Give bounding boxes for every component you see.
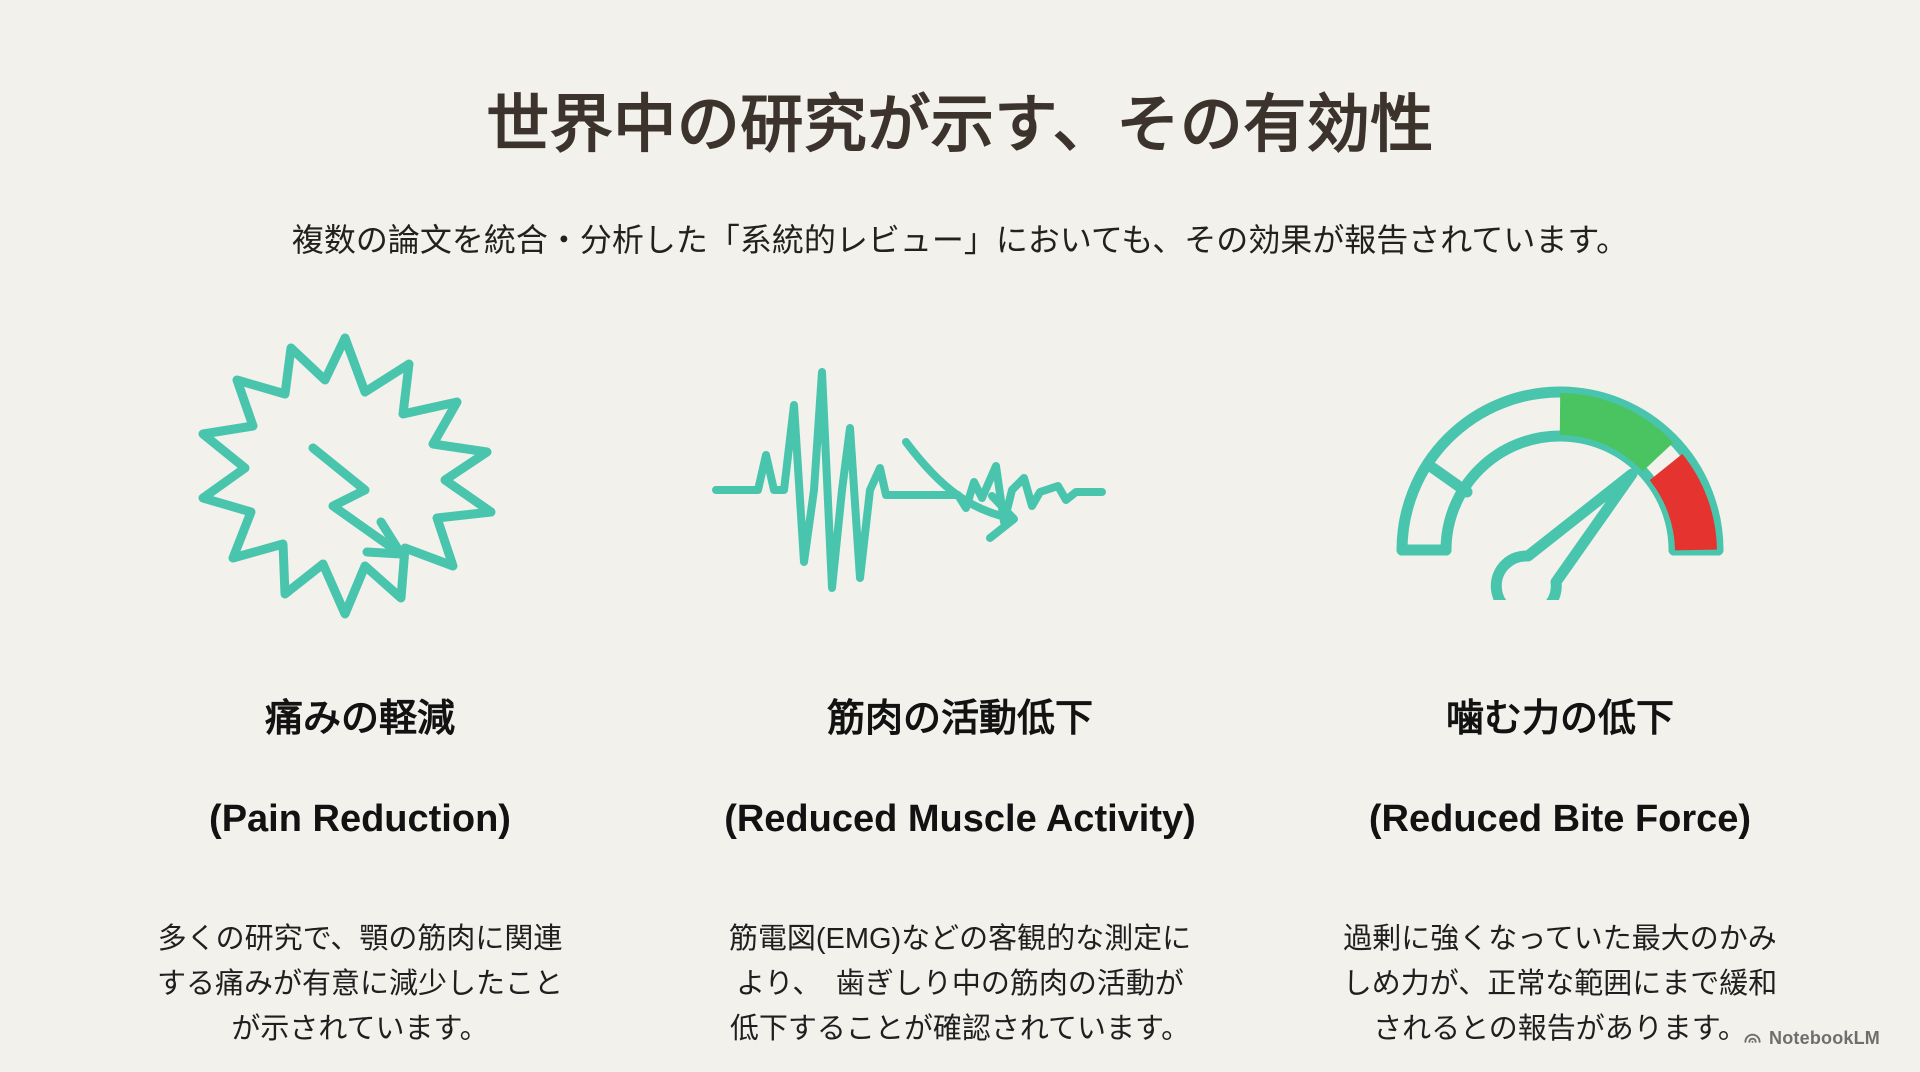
page-title: 世界中の研究が示す、その有効性 bbox=[0, 90, 1920, 161]
card-heading-en: (Reduced Muscle Activity) bbox=[724, 794, 1196, 844]
page-subtitle: 複数の論文を統合・分析した「系統的レビュー」においても、その効果が報告されていま… bbox=[0, 220, 1920, 260]
card-reduced-muscle-activity: 筋肉の活動低下 (Reduced Muscle Activity) 筋電図(EM… bbox=[660, 330, 1260, 1052]
card-heading: 筋肉の活動低下 (Reduced Muscle Activity) bbox=[724, 644, 1196, 895]
card-heading-ja: 噛む力の低下 bbox=[1369, 694, 1751, 744]
card-body: 筋電図(EMG)などの客観的な測定に より、 歯ぎしり中の筋肉の活動が 低下する… bbox=[729, 917, 1191, 1052]
emg-waveform-icon bbox=[660, 330, 1260, 620]
notebooklm-brand: NotebookLM bbox=[1743, 1026, 1880, 1050]
notebooklm-logo-icon bbox=[1743, 1026, 1762, 1050]
bite-force-gauge-icon bbox=[1260, 330, 1860, 620]
slide-root: 世界中の研究が示す、その有効性 複数の論文を統合・分析した「系統的レビュー」にお… bbox=[0, 0, 1920, 1072]
card-reduced-bite-force: 噛む力の低下 (Reduced Bite Force) 過剰に強くなっていた最大… bbox=[1260, 330, 1860, 1052]
card-pain-reduction: 痛みの軽減 (Pain Reduction) 多くの研究で、顎の筋肉に関連 する… bbox=[60, 330, 660, 1052]
card-body: 過剰に強くなっていた最大のかみ しめ力が、正常な範囲にまで緩和 されるとの報告が… bbox=[1343, 917, 1777, 1052]
card-heading-en: (Pain Reduction) bbox=[209, 794, 511, 844]
notebooklm-label: NotebookLM bbox=[1769, 1028, 1880, 1049]
card-heading-ja: 痛みの軽減 bbox=[209, 694, 511, 744]
card-heading-en: (Reduced Bite Force) bbox=[1369, 794, 1751, 844]
card-heading: 痛みの軽減 (Pain Reduction) bbox=[209, 644, 511, 895]
card-heading-ja: 筋肉の活動低下 bbox=[724, 694, 1196, 744]
pain-burst-icon bbox=[60, 330, 660, 620]
cards-row: 痛みの軽減 (Pain Reduction) 多くの研究で、顎の筋肉に関連 する… bbox=[60, 330, 1860, 1052]
card-heading: 噛む力の低下 (Reduced Bite Force) bbox=[1369, 644, 1751, 895]
card-body: 多くの研究で、顎の筋肉に関連 する痛みが有意に減少したこと が示されています。 bbox=[157, 917, 563, 1052]
